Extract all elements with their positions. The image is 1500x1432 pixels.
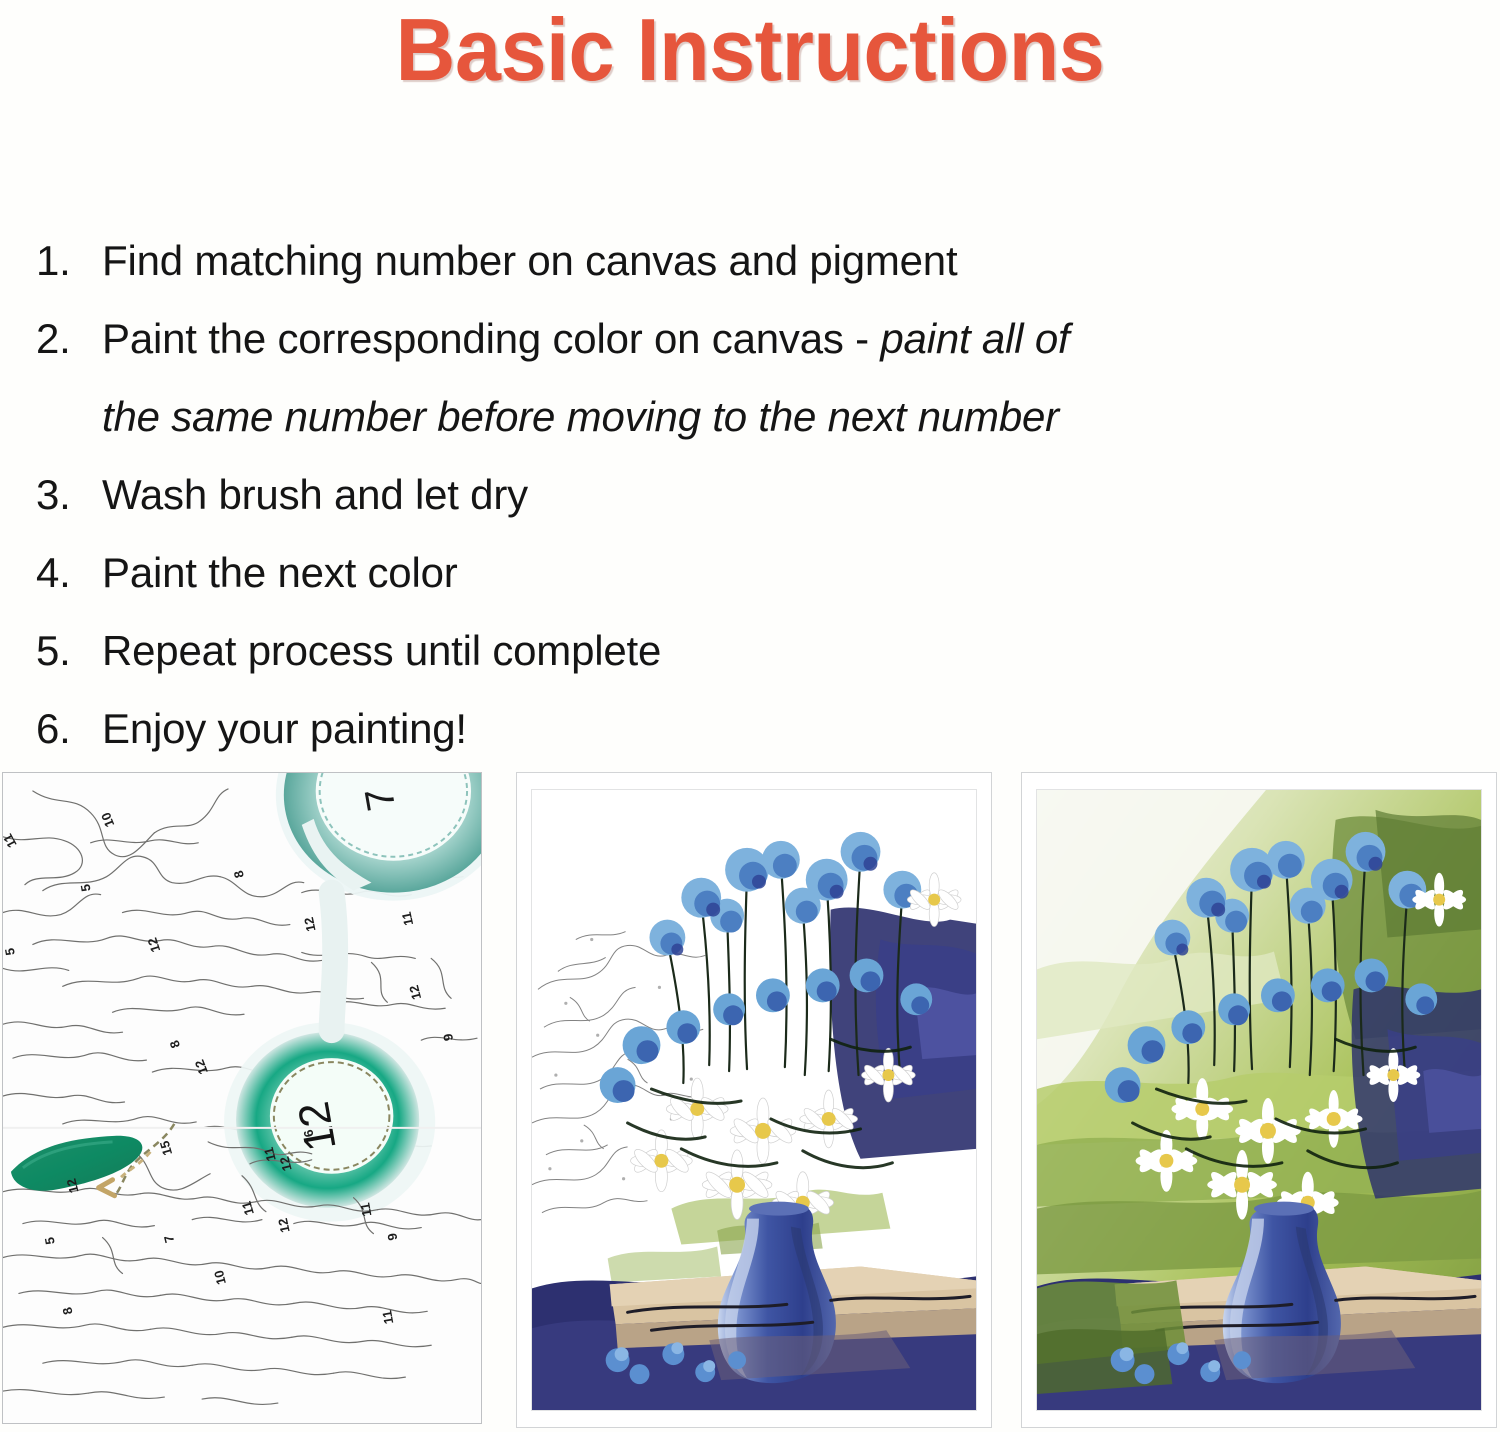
panel-numbered-canvas: 11 10 5 5 8 12 8 12 12 9 [2,772,482,1424]
panel-row: 11 10 5 5 8 12 8 12 12 9 [0,772,1500,1432]
completed-painting-image [1036,789,1482,1411]
completed-painting-svg [1037,790,1481,1410]
numbered-canvas-svg: 11 10 5 5 8 12 8 12 12 9 [3,773,481,1423]
instruction-list: 1.Find matching number on canvas and pig… [36,222,1466,768]
step-number: 3. [36,456,102,534]
svg-text:12: 12 [301,916,319,933]
step-continuation: the same number before moving to the nex… [36,378,1466,456]
step-number: 1. [36,222,102,300]
page-title: Basic Instructions [45,2,1455,98]
svg-text:11: 11 [379,1309,396,1325]
numbered-canvas-image: 11 10 5 5 8 12 8 12 12 9 [3,773,481,1423]
svg-text:11: 11 [357,1202,374,1218]
list-item: 5.Repeat process until complete [36,612,1466,690]
instructions-page: Basic Instructions 1.Find matching numbe… [0,0,1500,1432]
svg-text:12: 12 [289,1098,346,1155]
list-item: 1.Find matching number on canvas and pig… [36,222,1466,300]
step-text: Repeat process until complete [102,627,661,674]
step-number: 6. [36,690,102,768]
step-number: 4. [36,534,102,612]
step-text: Find matching number on canvas and pigme… [102,237,957,284]
step-text: Wash brush and let dry [102,471,528,518]
paint-pot-12: 12 [224,1022,435,1221]
list-item: 2.Paint the corresponding color on canva… [36,300,1466,378]
step-text-italic: paint all of [880,315,1069,362]
list-item: 4.Paint the next color [36,534,1466,612]
step-number: 5. [36,612,102,690]
step-text: Paint the next color [102,549,458,596]
partially-painted-image [531,789,977,1411]
step-text: Enjoy your painting! [102,705,467,752]
panel-completed-painting [1021,772,1497,1428]
list-item: 6.Enjoy your painting! [36,690,1466,768]
step-text: Paint the corresponding color on canvas … [102,315,880,362]
partially-painted-svg [532,790,976,1410]
panel-partially-painted [516,772,992,1428]
list-item: 3.Wash brush and let dry [36,456,1466,534]
step-number: 2. [36,300,102,378]
svg-text:12: 12 [275,1217,293,1234]
